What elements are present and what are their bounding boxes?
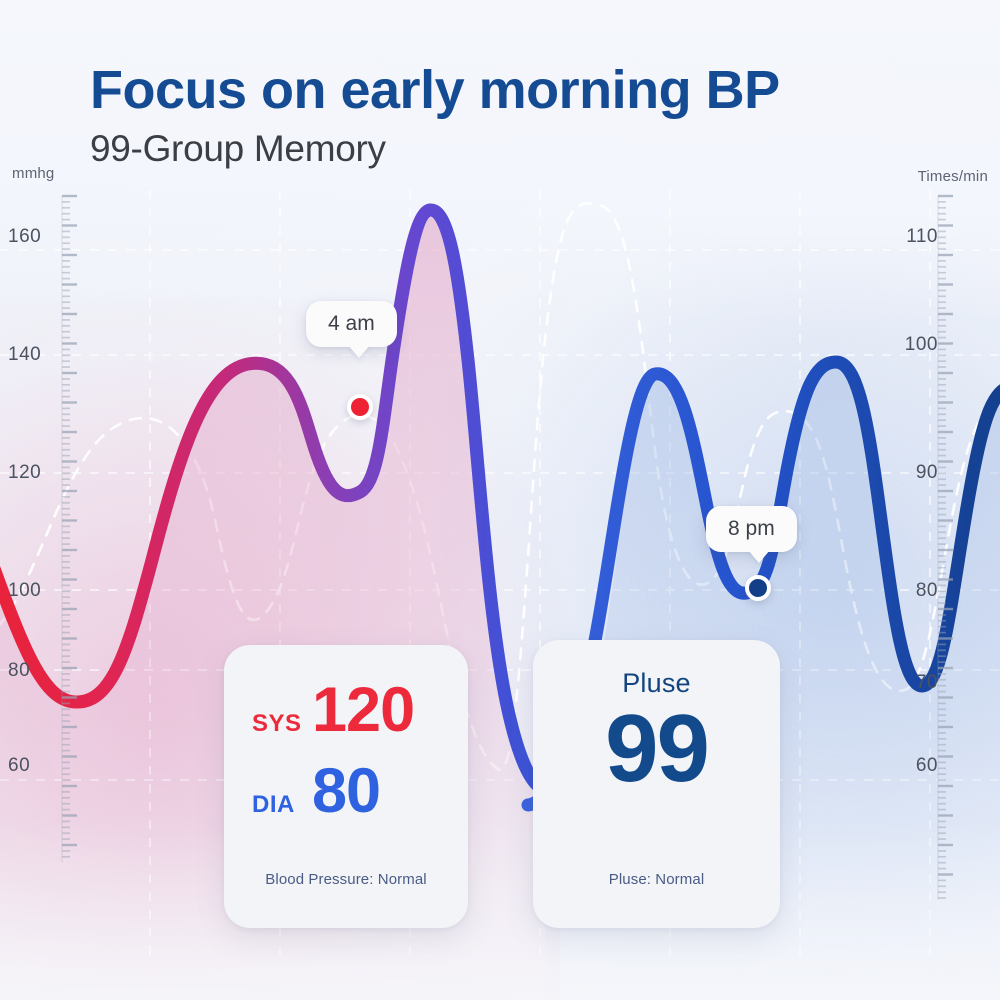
bp-row-systolic: SYS 120 xyxy=(224,679,468,742)
promo-canvas: mmhg Times/min 160 140 120 100 80 60 110… xyxy=(0,0,1000,1000)
pulse-title: Pluse xyxy=(533,640,780,699)
right-axis-tick-90: 90 xyxy=(916,462,938,484)
dia-value: 80 xyxy=(312,760,380,823)
bp-status-text: Blood Pressure: Normal xyxy=(224,871,468,928)
right-axis-unit: Times/min xyxy=(918,168,988,185)
left-axis-tick-140: 140 xyxy=(8,344,41,366)
left-axis-unit: mmhg xyxy=(12,165,54,182)
left-axis-tick-60: 60 xyxy=(8,755,30,777)
right-axis-tick-100: 100 xyxy=(905,334,938,356)
pulse-status-text: Pluse: Normal xyxy=(533,871,780,928)
data-point-evening[interactable] xyxy=(745,575,771,601)
bp-readings: SYS 120 DIA 80 xyxy=(224,645,468,823)
tooltip-morning[interactable]: 4 am xyxy=(306,301,397,347)
blood-pressure-card[interactable]: SYS 120 DIA 80 Blood Pressure: Normal xyxy=(224,645,468,928)
right-axis-tick-80: 80 xyxy=(916,580,938,602)
data-point-morning[interactable] xyxy=(347,394,373,420)
left-axis-tick-120: 120 xyxy=(8,462,41,484)
pulse-card[interactable]: Pluse 99 Pluse: Normal xyxy=(533,640,780,928)
page-subtitle: 99-Group Memory xyxy=(90,128,386,170)
sys-value: 120 xyxy=(312,679,414,742)
dia-label: DIA xyxy=(252,791,312,819)
left-axis-tick-100: 100 xyxy=(8,580,41,602)
right-axis-tick-70: 70 xyxy=(916,672,938,694)
sys-label: SYS xyxy=(252,710,312,738)
left-axis-tick-160: 160 xyxy=(8,226,41,248)
right-axis-tick-60: 60 xyxy=(916,755,938,777)
page-title: Focus on early morning BP xyxy=(90,62,780,119)
tooltip-evening[interactable]: 8 pm xyxy=(706,506,797,552)
pulse-value: 99 xyxy=(533,701,780,797)
bp-row-diastolic: DIA 80 xyxy=(224,760,468,823)
right-axis-tick-110: 110 xyxy=(906,226,938,248)
left-axis-tick-80: 80 xyxy=(8,660,30,682)
tooltip-evening-label: 8 pm xyxy=(728,517,775,540)
tooltip-morning-label: 4 am xyxy=(328,312,375,335)
